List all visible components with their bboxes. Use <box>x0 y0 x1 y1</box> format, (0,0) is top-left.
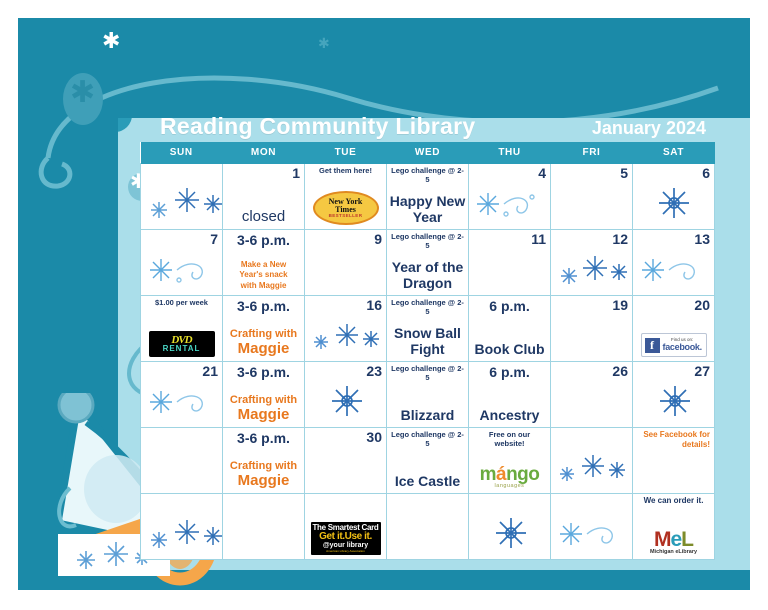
snowflake-single-icon <box>305 384 386 423</box>
day-cell[interactable]: See Facebook for details! <box>633 428 715 494</box>
month-year: January 2024 <box>592 118 720 139</box>
day-number: 9 <box>309 232 382 247</box>
weekday-header-wed: WED <box>387 142 469 164</box>
lego-challenge-note: Lego challenge @ 2-5 <box>391 232 464 250</box>
event-line: Year's snack <box>223 270 304 280</box>
event-time: 3-6 p.m. <box>227 298 300 314</box>
facebook-badge[interactable]: f Find us on: facebook. <box>641 333 707 357</box>
snowflake-art <box>305 384 390 418</box>
day-cell[interactable]: Get them here! New York Times BESTSELLER <box>305 164 387 230</box>
day-cell[interactable]: 27 <box>633 362 715 428</box>
day-cell[interactable]: 3-6 p.m. Crafting with Maggie <box>223 296 305 362</box>
weekday-header-fri: FRI <box>551 142 633 164</box>
day-cell[interactable]: 12 <box>551 230 633 296</box>
mango-wordmark: mángo <box>469 465 550 484</box>
dvd-rental-badge: DVD RENTAL <box>149 331 215 357</box>
day-cell[interactable]: 3-6 p.m. Make a New Year's snack with Ma… <box>223 230 305 296</box>
snowflake-cluster-icon <box>551 452 632 489</box>
mel-m: M <box>654 528 671 551</box>
snowflake-swirl-icon <box>141 254 222 291</box>
facebook-line2: facebook. <box>663 343 702 352</box>
event-label-emphasis: Maggie <box>223 473 304 490</box>
calendar-week-row: $1.00 per week DVD RENTAL 3-6 p.m. Craft… <box>141 296 715 362</box>
day-number: 16 <box>309 298 382 313</box>
order-note: We can order it. <box>637 496 710 505</box>
snowflake-art <box>633 254 718 286</box>
day-number: 11 <box>473 232 546 247</box>
mel-wordmark: MeL <box>633 529 714 550</box>
event-line: Make a New <box>223 260 304 270</box>
smartest-card-badge: The Smartest Card Get it.Use it. @your l… <box>311 522 381 555</box>
snowflake-swirl-icon <box>469 188 550 225</box>
day-cell[interactable] <box>141 164 223 230</box>
calendar-grid: SUN MON TUE WED THU FRI SAT <box>140 142 715 560</box>
day-cell[interactable]: 6 <box>633 164 715 230</box>
cell-note: $1.00 per week <box>145 298 218 308</box>
day-cell[interactable]: 16 <box>305 296 387 362</box>
event-label: Crafting with <box>223 460 304 472</box>
event-time: 3-6 p.m. <box>227 232 300 248</box>
event-label-emphasis: Maggie <box>223 407 304 424</box>
cell-note: Get them here! <box>309 166 382 176</box>
snowflake-cluster-icon <box>305 322 386 357</box>
day-cell[interactable]: 6 p.m. Ancestry <box>469 362 551 428</box>
day-cell[interactable] <box>387 494 469 560</box>
day-cell[interactable]: Lego challenge @ 2-5 Year of the Dragon <box>387 230 469 296</box>
day-number: 1 <box>227 166 300 181</box>
day-number: 4 <box>473 166 546 181</box>
event-label: Crafting with <box>223 394 304 406</box>
snowflake-art <box>470 188 550 220</box>
calendar-week-row: The Smartest Card Get it.Use it. @your l… <box>141 494 715 560</box>
lego-challenge-note: Lego challenge @ 2-5 <box>391 430 464 448</box>
snowflake-art <box>141 254 226 286</box>
snowflake-single-icon <box>633 186 714 225</box>
day-cell[interactable]: The Smartest Card Get it.Use it. @your l… <box>305 494 387 560</box>
weekday-header-mon: MON <box>223 142 305 164</box>
star-snowflake-icon: ✱ <box>102 30 120 52</box>
lego-challenge-note: Lego challenge @ 2-5 <box>391 298 464 316</box>
library-name: Reading Community Library <box>160 113 475 140</box>
day-cell[interactable]: 30 <box>305 428 387 494</box>
day-cell[interactable]: 3-6 p.m. Crafting with Maggie <box>223 428 305 494</box>
day-cell[interactable]: 6 p.m. Book Club <box>469 296 551 362</box>
nyt-bestseller-badge: New York Times BESTSELLER <box>313 191 379 225</box>
snowflake-swirl-icon <box>633 254 714 291</box>
calendar-week-row: 7 3-6 p.m. <box>141 230 715 296</box>
lego-challenge-note: Lego challenge @ 2-5 <box>391 166 464 184</box>
snowflake-art <box>551 518 636 550</box>
snowflake-art <box>305 322 390 352</box>
event-time: 3-6 p.m. <box>227 364 300 380</box>
snowflake-cluster-icon <box>141 186 222 225</box>
calendar-week-row: 21 3-6 p.m. <box>141 362 715 428</box>
day-number: 21 <box>145 364 218 379</box>
day-cell[interactable] <box>141 428 223 494</box>
mel-logo: MeL Michigan eLibrary <box>633 529 714 556</box>
weekday-header-thu: THU <box>469 142 551 164</box>
snowflake-art <box>633 384 718 418</box>
snowflake-art <box>469 516 554 550</box>
mango-accent: á <box>496 464 506 485</box>
day-number: 23 <box>309 364 382 379</box>
day-cell[interactable]: 4 <box>469 164 551 230</box>
snowflake-art <box>551 452 636 484</box>
day-number: 12 <box>555 232 628 247</box>
mango-post: ngo <box>506 464 539 485</box>
day-cell[interactable]: 13 <box>633 230 715 296</box>
event-label: Make a New Year's snack with Maggie <box>223 260 304 291</box>
day-cell[interactable]: Lego challenge @ 2-5 Ice Castle <box>387 428 469 494</box>
facebook-details-note: See Facebook for details! <box>637 430 710 451</box>
day-number: 27 <box>637 364 710 379</box>
day-number: 20 <box>637 298 710 313</box>
day-cell[interactable]: 5 <box>551 164 633 230</box>
day-cell[interactable]: 7 <box>141 230 223 296</box>
snowflake-cluster-icon <box>551 254 632 291</box>
mango-languages-badge: mángo languages <box>469 465 550 490</box>
event-label: closed <box>223 208 304 225</box>
mel-l: L <box>681 528 693 551</box>
day-number: 19 <box>555 298 628 313</box>
nyt-line2: Times <box>335 206 356 214</box>
snowflake-art <box>141 386 226 418</box>
snowflake-art <box>634 186 714 220</box>
day-cell[interactable] <box>551 428 633 494</box>
day-number: 26 <box>555 364 628 379</box>
calendar-week-row: 1 closed Get them here! New York Times B… <box>141 164 715 230</box>
mel-sub: Michigan eLibrary <box>633 550 714 556</box>
facebook-icon: f <box>645 338 660 353</box>
weekday-header-row: SUN MON TUE WED THU FRI SAT <box>141 142 715 164</box>
event-label: Snow Ball Fight <box>387 325 468 357</box>
day-number: 30 <box>309 430 382 445</box>
event-label: Crafting with <box>223 328 304 340</box>
event-label-emphasis: Maggie <box>223 341 304 358</box>
day-number: 5 <box>555 166 628 181</box>
day-cell[interactable]: Free on our website! mángo languages <box>469 428 551 494</box>
day-cell[interactable] <box>141 494 223 560</box>
day-cell[interactable]: $1.00 per week DVD RENTAL <box>141 296 223 362</box>
snowflake-swirl-icon <box>551 518 632 555</box>
event-label: Happy New Year <box>387 193 468 225</box>
day-number: 6 <box>637 166 710 181</box>
snowflake-cluster-icon <box>141 518 222 555</box>
calendar-body: 1 closed Get them here! New York Times B… <box>141 164 715 560</box>
event-label: Ancestry <box>469 407 550 423</box>
event-line: with Maggie <box>223 281 304 291</box>
day-cell[interactable]: 3-6 p.m. Crafting with Maggie <box>223 362 305 428</box>
day-cell[interactable]: 1 closed <box>223 164 305 230</box>
day-cell[interactable]: 11 <box>469 230 551 296</box>
day-cell[interactable] <box>469 494 551 560</box>
calendar-grid-wrapper: SUN MON TUE WED THU FRI SAT <box>140 142 715 560</box>
mel-e: e <box>670 528 681 551</box>
event-label: Year of the Dragon <box>387 259 468 291</box>
calendar-week-row: 3-6 p.m. Crafting with Maggie 30 Lego ch… <box>141 428 715 494</box>
snowflake-single-icon <box>469 516 550 555</box>
decor-blob <box>118 118 132 132</box>
mango-pre: m <box>480 464 496 485</box>
day-cell[interactable]: 26 <box>551 362 633 428</box>
day-number: 7 <box>145 232 218 247</box>
day-cell[interactable] <box>223 494 305 560</box>
event-time: 3-6 p.m. <box>227 430 300 446</box>
cell-note: Free on our website! <box>473 430 546 448</box>
snowflake-single-icon <box>633 384 714 423</box>
star-snowflake-icon: ✱ <box>318 36 330 50</box>
day-cell[interactable]: 21 <box>141 362 223 428</box>
snowflake-art <box>551 254 636 286</box>
day-number: 13 <box>637 232 710 247</box>
day-cell[interactable]: Lego challenge @ 2-5 Blizzard <box>387 362 469 428</box>
day-cell[interactable] <box>551 494 633 560</box>
day-cell[interactable]: We can order it. MeL Michigan eLibrary <box>633 494 715 560</box>
event-time: 6 p.m. <box>473 298 546 314</box>
lego-challenge-note: Lego challenge @ 2-5 <box>391 364 464 382</box>
calendar-poster: ✱ ✱ ✱ ✱ ✱ ✱ ✱ <box>0 0 768 610</box>
day-cell[interactable]: 19 <box>551 296 633 362</box>
weekday-header-sun: SUN <box>141 142 223 164</box>
day-cell[interactable]: 23 <box>305 362 387 428</box>
dvd-line2: RENTAL <box>163 345 201 353</box>
poster-title-bar: Reading Community Library January 2024 <box>160 113 720 143</box>
day-cell[interactable]: Lego challenge @ 2-5 Happy New Year <box>387 164 469 230</box>
day-cell[interactable]: Lego challenge @ 2-5 Snow Ball Fight <box>387 296 469 362</box>
weekday-header-sat: SAT <box>633 142 715 164</box>
day-cell[interactable]: 9 <box>305 230 387 296</box>
smartcard-line2: Get it.Use it. <box>319 532 372 542</box>
smartcard-line4: American Library Association <box>326 550 365 553</box>
star-snowflake-icon: ✱ <box>70 78 95 108</box>
event-time: 6 p.m. <box>473 364 546 380</box>
event-label: Ice Castle <box>387 473 468 489</box>
nyt-line3: BESTSELLER <box>329 213 363 218</box>
weekday-header-tue: TUE <box>305 142 387 164</box>
day-cell[interactable]: 20 f Find us on: facebook. <box>633 296 715 362</box>
snowflake-swirl-icon <box>141 386 222 423</box>
event-label: Book Club <box>469 341 550 357</box>
event-label: Blizzard <box>387 407 468 423</box>
